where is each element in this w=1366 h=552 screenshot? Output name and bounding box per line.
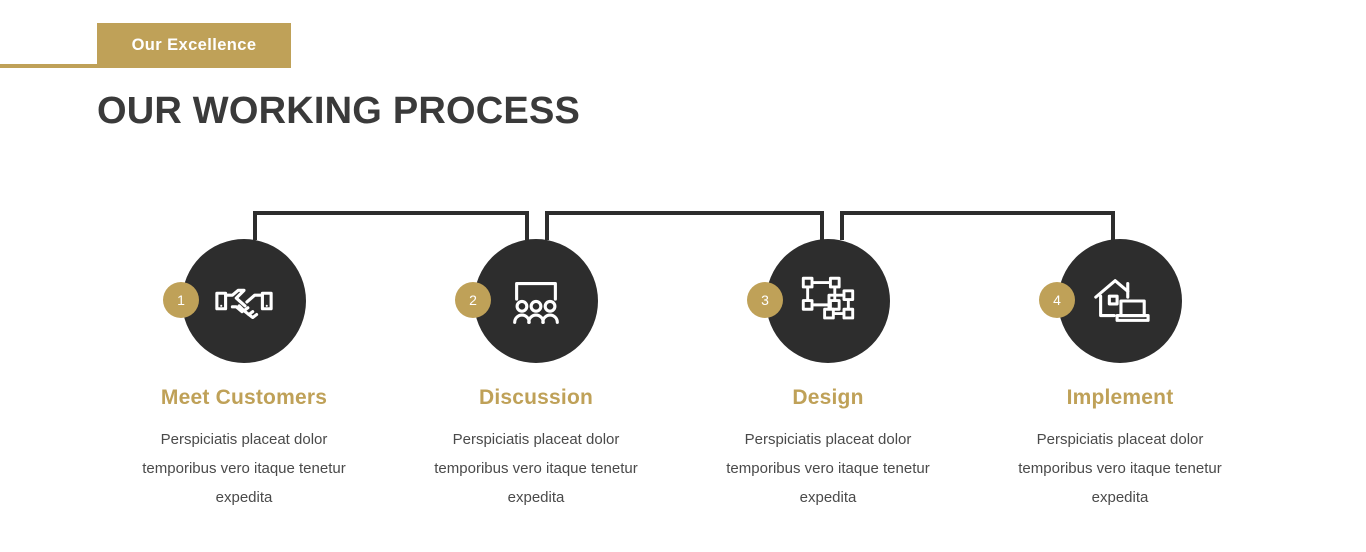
step-title: Meet Customers (161, 386, 327, 410)
page-title: OUR WORKING PROCESS (97, 90, 580, 133)
step-disc (474, 239, 598, 363)
step-description: Perspiciatis placeat dolor temporibus ve… (135, 425, 353, 512)
connector-bracket (842, 213, 1113, 240)
process-step: 3 Design Perspiciatis placeat dolor temp… (682, 239, 974, 512)
step-number-badge: 2 (455, 282, 491, 318)
house-laptop-build-icon (1089, 270, 1151, 332)
eyebrow-label: Our Excellence (132, 36, 257, 55)
process-step: 1 Meet Customers Perspiciatis placeat do… (98, 239, 390, 512)
vector-nodes-design-icon (797, 270, 859, 332)
connector-bracket (255, 213, 527, 240)
step-number-badge: 1 (163, 282, 199, 318)
step-icon-wrap: 2 (474, 239, 598, 363)
step-title: Implement (1067, 386, 1174, 410)
step-description: Perspiciatis placeat dolor temporibus ve… (719, 425, 937, 512)
handshake-icon (213, 270, 275, 332)
step-disc (766, 239, 890, 363)
process-step: 2 Discussion Perspiciatis placeat dolor … (390, 239, 682, 512)
working-process-section: Our Excellence OUR WORKING PROCESS (0, 0, 1366, 552)
connector-bracket (547, 213, 822, 240)
step-icon-wrap: 3 (766, 239, 890, 363)
step-number-badge: 4 (1039, 282, 1075, 318)
eyebrow-rule (0, 64, 97, 68)
eyebrow-container: Our Excellence (0, 23, 1366, 69)
step-title: Design (792, 386, 863, 410)
eyebrow-badge: Our Excellence (97, 23, 291, 68)
step-icon-wrap: 1 (182, 239, 306, 363)
process-step: 4 Implement Perspiciatis placeat dolor t… (974, 239, 1266, 512)
step-description: Perspiciatis placeat dolor temporibus ve… (1011, 425, 1229, 512)
step-disc (1058, 239, 1182, 363)
step-disc (182, 239, 306, 363)
step-icon-wrap: 4 (1058, 239, 1182, 363)
process-steps: 1 Meet Customers Perspiciatis placeat do… (0, 239, 1366, 512)
step-number-badge: 3 (747, 282, 783, 318)
step-description: Perspiciatis placeat dolor temporibus ve… (427, 425, 645, 512)
meeting-audience-icon (505, 270, 567, 332)
step-title: Discussion (479, 386, 593, 410)
